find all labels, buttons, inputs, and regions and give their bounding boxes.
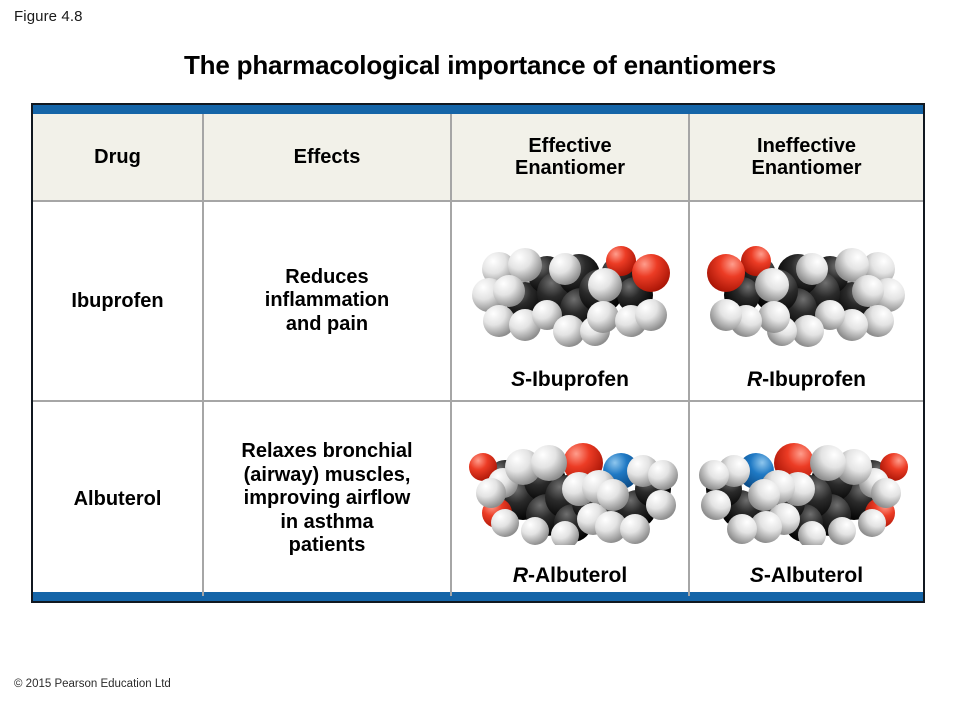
column-header-drug: Drug <box>33 114 204 202</box>
table-grid: Drug Effects Effective Enantiomer Ineffe… <box>33 114 923 592</box>
table-row-ibuprofen-drug: Ibuprofen <box>33 202 204 402</box>
column-header-ineffective-line1: Ineffective <box>751 135 861 157</box>
effects-line: inflammation <box>265 289 389 313</box>
effects-line: patients <box>241 534 412 558</box>
figure-number-label: Figure 4.8 <box>14 8 83 25</box>
effects-line: in asthma <box>241 511 412 535</box>
drug-name-albuterol: Albuterol <box>74 488 162 511</box>
column-header-effective-line2: Enantiomer <box>515 157 625 179</box>
column-header-effects: Effects <box>204 114 452 202</box>
enantiomer-comparison-table: Drug Effects Effective Enantiomer Ineffe… <box>31 103 925 603</box>
stereo-descriptor: R <box>513 564 528 587</box>
table-row-ibuprofen-effects: Reduces inflammation and pain <box>204 202 452 402</box>
effects-line: and pain <box>265 313 389 337</box>
molecule-cell-s-ibuprofen: S-Ibuprofen <box>452 202 690 402</box>
stereo-descriptor: R <box>747 368 762 391</box>
table-top-accent-bar <box>33 105 923 114</box>
table-row-albuterol-drug: Albuterol <box>33 402 204 596</box>
molecule-label-r-albuterol: R-Albuterol <box>513 564 627 594</box>
molecule-model-r-albuterol-icon <box>454 408 686 564</box>
effects-line: improving airflow <box>241 487 412 511</box>
molecule-cell-s-albuterol: S-Albuterol <box>690 402 923 596</box>
molecule-cell-r-albuterol: R-Albuterol <box>452 402 690 596</box>
column-header-effective-line1: Effective <box>515 135 625 157</box>
effects-line: (airway) muscles, <box>241 464 412 488</box>
molecule-label-s-ibuprofen: S-Ibuprofen <box>511 368 629 398</box>
page-title: The pharmacological importance of enanti… <box>0 50 960 81</box>
table-row-albuterol-effects: Relaxes bronchial (airway) muscles, impr… <box>204 402 452 596</box>
copyright-notice: © 2015 Pearson Education Ltd <box>14 678 171 690</box>
molecule-name: -Ibuprofen <box>762 368 866 391</box>
column-header-effects-label: Effects <box>294 146 361 168</box>
drug-name-ibuprofen: Ibuprofen <box>71 290 163 313</box>
molecule-label-r-ibuprofen: R-Ibuprofen <box>747 368 866 398</box>
column-header-ineffective-line2: Enantiomer <box>751 157 861 179</box>
effects-line: Relaxes bronchial <box>241 440 412 464</box>
molecule-model-r-ibuprofen-icon <box>692 208 921 368</box>
stereo-descriptor: S <box>750 564 764 587</box>
molecule-name: -Ibuprofen <box>525 368 629 391</box>
column-header-ineffective-enantiomer: Ineffective Enantiomer <box>690 114 923 202</box>
effects-line: Reduces <box>265 266 389 290</box>
molecule-name: -Albuterol <box>764 564 863 587</box>
column-header-drug-label: Drug <box>94 146 141 168</box>
stereo-descriptor: S <box>511 368 525 391</box>
molecule-model-s-albuterol-icon <box>692 408 921 564</box>
molecule-label-s-albuterol: S-Albuterol <box>750 564 863 594</box>
molecule-cell-r-ibuprofen: R-Ibuprofen <box>690 202 923 402</box>
molecule-name: -Albuterol <box>528 564 627 587</box>
molecule-model-s-ibuprofen-icon <box>454 208 686 368</box>
column-header-effective-enantiomer: Effective Enantiomer <box>452 114 690 202</box>
